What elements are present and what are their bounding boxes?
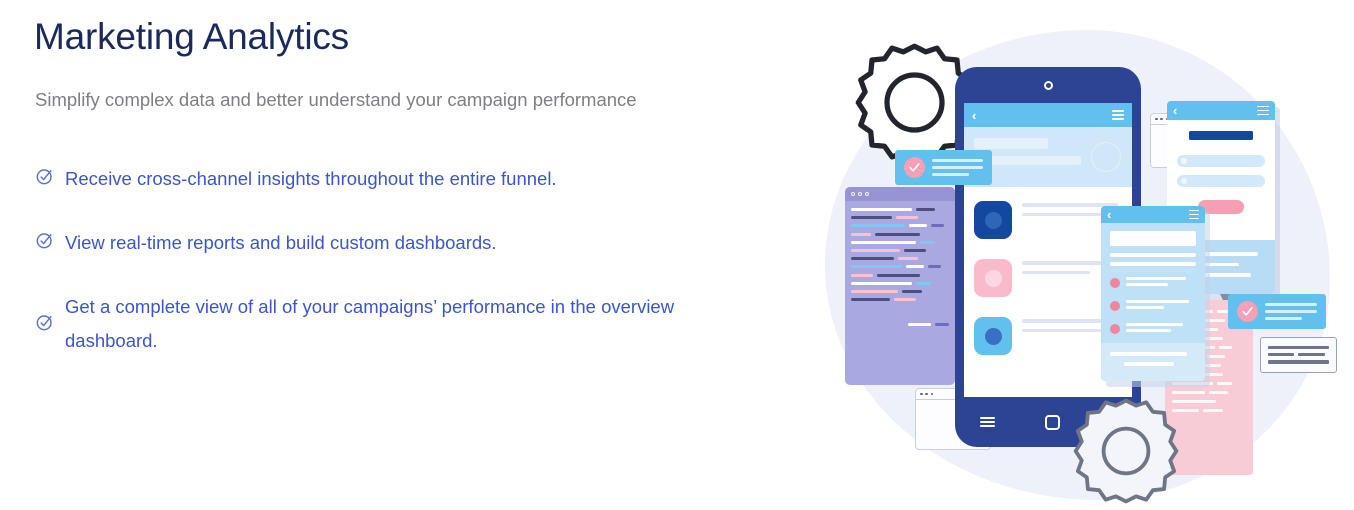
- code-panel-purple: [845, 187, 955, 385]
- list-item: View real-time reports and build custom …: [34, 226, 800, 260]
- feature-list: Receive cross-channel insights throughou…: [34, 162, 800, 358]
- bullet-dot-icon: [1110, 278, 1120, 288]
- hero-text-column: Marketing Analytics Simplify complex dat…: [0, 0, 800, 510]
- field-icon: [1181, 178, 1187, 184]
- window-titlebar: [845, 187, 955, 201]
- back-chevron-icon[interactable]: ‹: [1107, 208, 1111, 221]
- card-header-placeholder: [1110, 231, 1196, 246]
- form-input-field[interactable]: [1177, 175, 1265, 187]
- marketing-analytics-illustration: ‹: [805, 0, 1354, 510]
- hamburger-menu-icon[interactable]: [1257, 106, 1269, 116]
- list-card: ‹: [1101, 206, 1205, 381]
- list-item-thumbnail: [974, 317, 1012, 355]
- feature-text: View real-time reports and build custom …: [65, 226, 497, 260]
- window-dot-icon: [931, 393, 934, 396]
- form-input-field[interactable]: [1177, 155, 1265, 167]
- hamburger-menu-icon[interactable]: [1112, 110, 1124, 120]
- phone-notch: [955, 67, 1141, 103]
- hamburger-menu-icon[interactable]: [1189, 210, 1199, 220]
- checklist-item[interactable]: [1110, 300, 1196, 312]
- window-dot-icon: [920, 393, 923, 396]
- check-circle-icon: [35, 230, 55, 250]
- text-lines-card: [1260, 337, 1337, 373]
- toast-notification: [895, 150, 992, 185]
- list-item: Receive cross-channel insights throughou…: [34, 162, 800, 196]
- list-item-thumbnail: [974, 201, 1012, 239]
- marketing-analytics-hero-section: Marketing Analytics Simplify complex dat…: [0, 0, 1354, 510]
- checklist-item[interactable]: [1110, 323, 1196, 335]
- card-body: [1101, 223, 1205, 335]
- list-item[interactable]: [974, 201, 1122, 239]
- toast-notification: [1228, 294, 1326, 329]
- window-dot-icon: [851, 192, 855, 196]
- bullet-dot-icon: [1110, 301, 1120, 311]
- feature-text: Get a complete view of all of your campa…: [65, 290, 725, 358]
- field-icon: [1181, 158, 1187, 164]
- checklist-item[interactable]: [1110, 277, 1196, 289]
- feature-text: Receive cross-channel insights throughou…: [65, 162, 557, 196]
- list-item[interactable]: [974, 317, 1122, 355]
- window-dot-icon: [1160, 118, 1163, 121]
- toast-text-lines: [932, 159, 983, 175]
- toast-text-lines: [1265, 303, 1317, 319]
- window-dot-icon: [865, 192, 869, 196]
- list-item: Get a complete view of all of your campa…: [34, 290, 800, 358]
- list-item[interactable]: [974, 259, 1122, 297]
- circle-avatar-placeholder: [1091, 142, 1121, 172]
- form-title-placeholder: [1189, 131, 1252, 140]
- card-footer: [1101, 343, 1205, 381]
- window-dot-icon: [858, 192, 862, 196]
- check-circle-icon: [35, 166, 55, 186]
- hero-subtitle: Simplify complex data and better underst…: [35, 82, 655, 118]
- window-dot-icon: [925, 393, 928, 396]
- card-app-bar: ‹: [1167, 101, 1275, 120]
- gear-outline-gray-icon: [1070, 395, 1182, 507]
- back-chevron-icon[interactable]: ‹: [972, 109, 976, 122]
- square-icon[interactable]: [1045, 415, 1060, 430]
- hamburger-menu-icon[interactable]: [980, 417, 995, 427]
- phone-app-bar: ‹: [964, 103, 1132, 127]
- camera-icon: [1044, 81, 1053, 90]
- check-circle-icon: [1237, 301, 1258, 322]
- code-lines: [845, 201, 955, 338]
- window-dot-icon: [1155, 118, 1158, 121]
- form-body: [1167, 120, 1275, 214]
- back-chevron-icon[interactable]: ‹: [1173, 104, 1177, 117]
- page-title: Marketing Analytics: [34, 14, 800, 60]
- check-circle-icon: [35, 312, 55, 332]
- check-circle-icon: [904, 157, 925, 178]
- bullet-dot-icon: [1110, 324, 1120, 334]
- list-item-thumbnail: [974, 259, 1012, 297]
- card-app-bar: ‹: [1101, 206, 1205, 223]
